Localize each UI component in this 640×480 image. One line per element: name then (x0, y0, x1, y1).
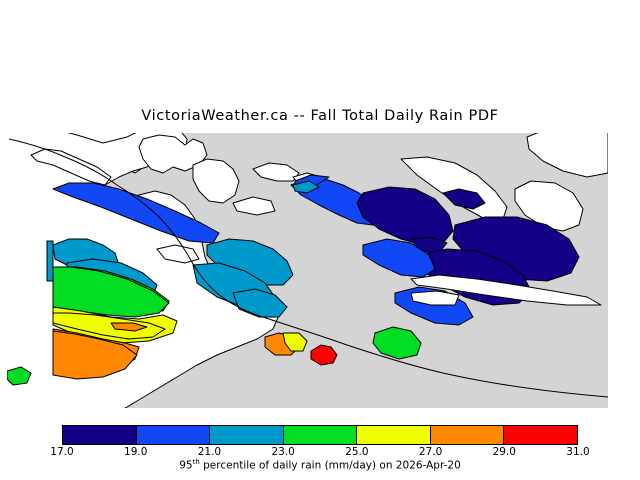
colorbar-swatch-6[interactable] (504, 426, 577, 444)
colorbar-tick-3: 23.0 (271, 446, 294, 458)
colorbar-caption: 95th percentile of daily rain (mm/day) o… (0, 458, 640, 472)
colorbar-tick-2: 21.0 (198, 446, 221, 458)
map-svg (7, 133, 608, 408)
colorbar-swatch-4[interactable] (357, 426, 431, 444)
colorbar-swatch-1[interactable] (137, 426, 211, 444)
colorbar-tick-0: 17.0 (50, 446, 73, 458)
colorbar-swatch-0[interactable] (63, 426, 137, 444)
map-panel[interactable] (7, 133, 608, 408)
region-cowichan-coast (47, 241, 53, 281)
weather-map-page: VictoriaWeather.ca -- Fall Total Daily R… (0, 0, 640, 480)
caption-pre: 95 (179, 460, 192, 472)
colorbar-swatch-2[interactable] (210, 426, 284, 444)
colorbar-swatches[interactable] (62, 425, 578, 445)
page-title: VictoriaWeather.ca -- Fall Total Daily R… (0, 108, 640, 124)
colorbar-swatch-3[interactable] (284, 426, 358, 444)
colorbar-tick-5: 27.0 (419, 446, 442, 458)
caption-ordinal-suffix: th (193, 458, 200, 466)
caption-post: percentile of daily rain (mm/day) on 202… (200, 460, 461, 472)
colorbar-tick-4: 25.0 (345, 446, 368, 458)
colorbar[interactable] (62, 425, 578, 445)
colorbar-swatch-5[interactable] (431, 426, 505, 444)
colorbar-tick-7: 31.0 (566, 446, 589, 458)
colorbar-tick-1: 19.0 (124, 446, 147, 458)
colorbar-tick-6: 29.0 (493, 446, 516, 458)
